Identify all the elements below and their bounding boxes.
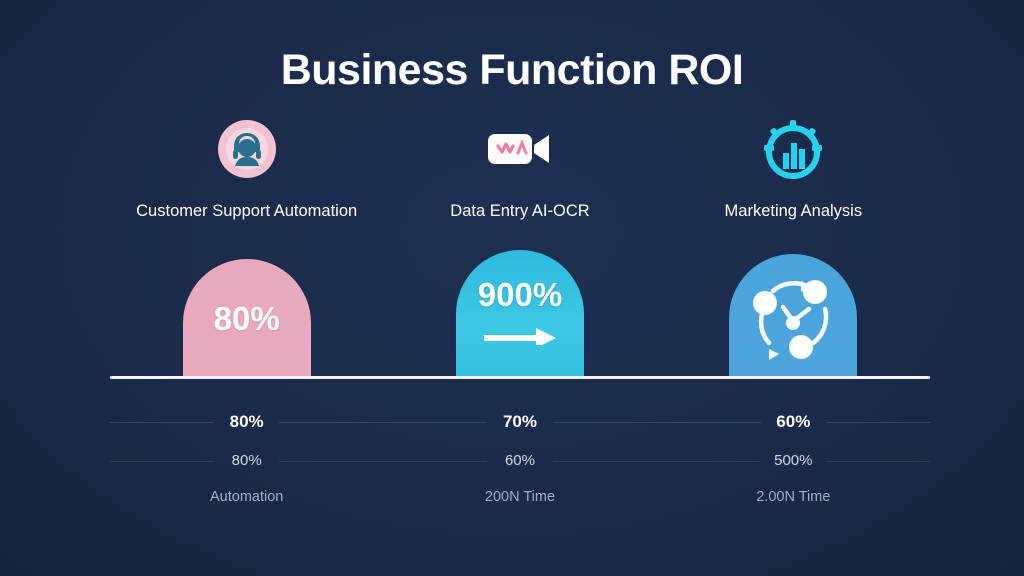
column-label: Customer Support Automation bbox=[136, 202, 357, 221]
stat-row-captions: Automation 200N Time 2.00N Time bbox=[110, 489, 930, 505]
stat-primary-value: 60% bbox=[764, 412, 822, 432]
bar-cell-marketing bbox=[657, 250, 930, 377]
stat-cell: 60% bbox=[657, 412, 930, 432]
support-agent-icon bbox=[216, 118, 278, 180]
arrow-right-icon bbox=[482, 325, 558, 350]
column-header-customer-support: Customer Support Automation bbox=[110, 118, 383, 248]
caption-cell: 2.00N Time bbox=[657, 489, 930, 505]
column-label: Marketing Analysis bbox=[725, 202, 863, 221]
video-camera-icon bbox=[485, 118, 555, 180]
bar-value-label: 900% bbox=[478, 278, 562, 311]
column-header-marketing: Marketing Analysis bbox=[657, 118, 930, 248]
stat-secondary-value: 80% bbox=[220, 452, 274, 469]
bar-customer-support[interactable]: 80% bbox=[183, 259, 311, 377]
caption-label: 2.00N Time bbox=[744, 489, 842, 505]
bar-cell-customer-support: 80% bbox=[110, 250, 383, 377]
stat-primary-value: 80% bbox=[218, 412, 276, 432]
stat-row-primary: 80% 70% 60% bbox=[110, 412, 930, 432]
slide-canvas: Business Function ROI Customer Support A… bbox=[0, 0, 1024, 576]
stat-cell: 80% bbox=[110, 412, 383, 432]
cycle-clock-icon bbox=[739, 265, 847, 367]
caption-label: 200N Time bbox=[473, 489, 567, 505]
caption-cell: 200N Time bbox=[383, 489, 656, 505]
stat-secondary-value: 60% bbox=[493, 452, 547, 469]
bar-chart: 80% 900% bbox=[110, 250, 930, 377]
stat-cell: 80% bbox=[110, 452, 383, 469]
bar-marketing[interactable] bbox=[729, 254, 857, 377]
stat-primary-value: 70% bbox=[491, 412, 549, 432]
bar-value-label: 80% bbox=[214, 302, 280, 335]
chart-baseline bbox=[110, 376, 930, 379]
caption-label: Automation bbox=[198, 489, 295, 505]
stat-cell: 500% bbox=[657, 452, 930, 469]
column-label: Data Entry AI-OCR bbox=[450, 202, 589, 221]
caption-cell: Automation bbox=[110, 489, 383, 505]
stat-cell: 60% bbox=[383, 452, 656, 469]
column-header-data-entry: Data Entry AI-OCR bbox=[383, 118, 656, 248]
page-title: Business Function ROI bbox=[0, 46, 1024, 95]
bar-data-entry[interactable]: 900% bbox=[456, 250, 584, 377]
stat-secondary-value: 500% bbox=[762, 452, 824, 469]
stat-row-secondary: 80% 60% 500% bbox=[110, 452, 930, 469]
analytics-gear-icon bbox=[762, 118, 824, 180]
column-headers: Customer Support Automation Data Entry A… bbox=[110, 118, 930, 248]
bar-cell-data-entry: 900% bbox=[383, 250, 656, 377]
stat-cell: 70% bbox=[383, 412, 656, 432]
